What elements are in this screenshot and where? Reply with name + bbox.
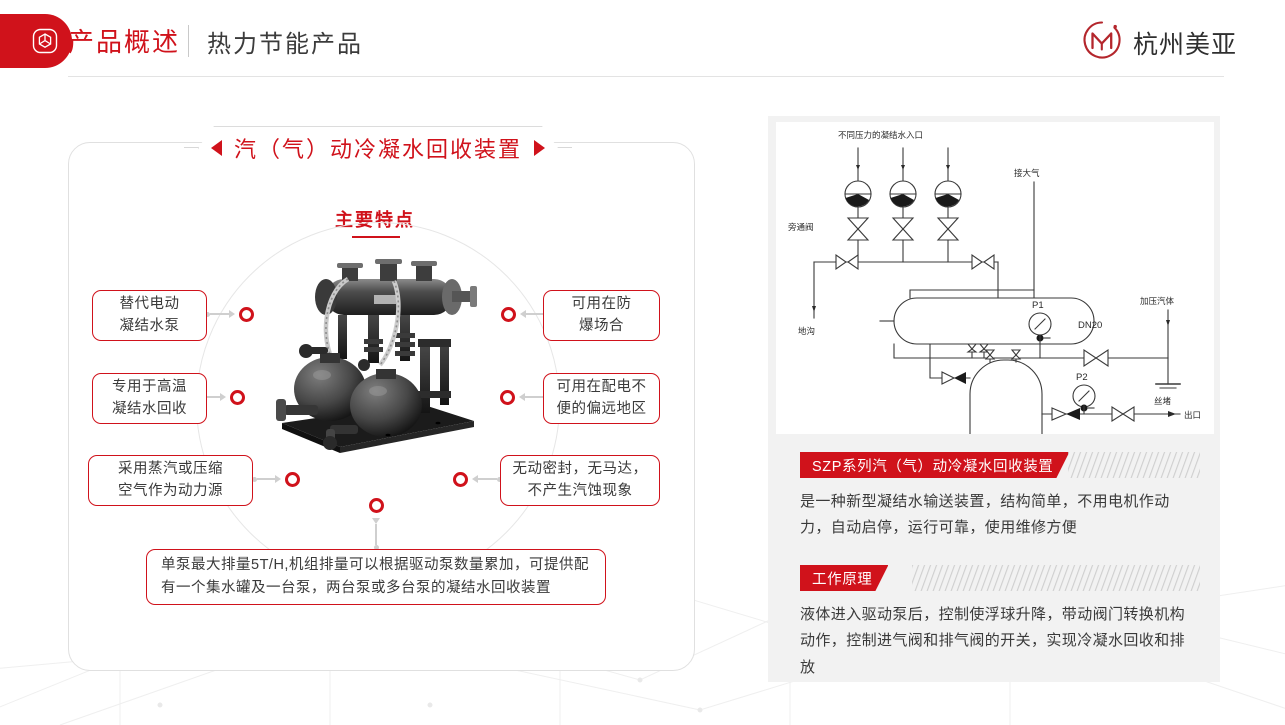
- meiya-m-logo-icon: [1080, 18, 1124, 67]
- diagram-label-atmosphere: 接大气: [1014, 168, 1040, 178]
- feature-node-1: [239, 307, 254, 322]
- feature-box-right-2: 可用在配电不 便的偏远地区: [543, 373, 660, 424]
- header-rule: [68, 76, 1224, 77]
- diagram-label-outlet: 出口: [1184, 410, 1201, 420]
- brand-logo: 杭州美亚: [1080, 18, 1237, 67]
- feature-node-6: [500, 390, 515, 405]
- connector-left-3: [252, 475, 281, 483]
- section-hatch-decoration: [1068, 452, 1200, 478]
- diagram-label-dn20: DN20: [1078, 320, 1102, 331]
- brand-name: 杭州美亚: [1133, 25, 1237, 61]
- section-principle: 工作原理 液体进入驱动泵后，控制使浮球升降，带动阀门转换机构动作，控制进气阀和排…: [800, 565, 1200, 681]
- cube-box-icon: [32, 28, 58, 54]
- diagram-label-bypass: 旁通阀: [788, 222, 814, 232]
- diagram-label-drain: 地沟: [798, 326, 815, 336]
- ribbon-arrow-left-icon: [211, 140, 222, 156]
- section-szp: SZP系列汽（气）动冷凝水回收装置 是一种新型凝结水输送装置，结构简单，不用电机…: [800, 452, 1200, 542]
- section-body: 液体进入驱动泵后，控制使浮球升降，带动阀门转换机构动作，控制进气阀和排气阀的开关…: [800, 602, 1200, 681]
- page-title: 产品概述: [68, 22, 180, 59]
- section-hatch-decoration: [912, 565, 1200, 591]
- ribbon-label: 汽（气）动冷凝水回收装置: [234, 132, 522, 164]
- page-header: 产品概述 热力节能产品 杭州美亚: [0, 0, 1285, 82]
- connector-left-1: [205, 310, 235, 318]
- section-body: 是一种新型凝结水输送装置，结构简单，不用电机作动力，自动启停，运行可靠，使用维修…: [800, 489, 1200, 542]
- feature-box-right-3: 无动密封，无马达， 不产生汽蚀现象: [500, 455, 660, 506]
- feature-label: 替代电动 凝结水泵: [120, 294, 180, 338]
- diagram-label-p2: P2: [1076, 372, 1088, 383]
- feature-box-left-2: 专用于高温 凝结水回收: [92, 373, 207, 424]
- feature-label: 单泵最大排量5T/H,机组排量可以根据驱动泵数量累加，可提供配有一个集水罐及一台…: [161, 554, 591, 600]
- diagram-label-gas: 加压汽体: [1140, 296, 1175, 306]
- feature-node-5: [453, 472, 468, 487]
- feature-box-left-1: 替代电动 凝结水泵: [92, 290, 207, 341]
- feature-node-4: [369, 498, 384, 513]
- section-tag: SZP系列汽（气）动冷凝水回收装置: [800, 452, 1069, 478]
- header-badge: [0, 14, 72, 68]
- header-divider: [188, 25, 189, 57]
- connector-bottom: [372, 518, 380, 550]
- diagram-container: 不同压力的凝结水入口: [776, 122, 1214, 434]
- piping-schematic-diagram: 不同压力的凝结水入口: [776, 122, 1214, 434]
- ribbon-arrow-right-icon: [534, 140, 545, 156]
- diagram-label-inlet: 不同压力的凝结水入口: [838, 130, 923, 140]
- feature-node-3: [285, 472, 300, 487]
- diagram-label-plug: 丝堵: [1154, 396, 1172, 406]
- section-tag: 工作原理: [800, 565, 888, 591]
- feature-label: 无动密封，无马达， 不产生汽蚀现象: [513, 459, 648, 503]
- diagram-label-p1: P1: [1032, 300, 1044, 311]
- feature-box-right-1: 可用在防 爆场合: [543, 290, 660, 341]
- feature-label: 可用在防 爆场合: [572, 294, 632, 338]
- feature-node-7: [501, 307, 516, 322]
- ribbon-title: 汽（气）动冷凝水回收装置: [198, 126, 558, 170]
- feature-node-2: [230, 390, 245, 405]
- feature-label: 采用蒸汽或压缩 空气作为动力源: [118, 459, 223, 503]
- feature-box-bottom: 单泵最大排量5T/H,机组排量可以根据驱动泵数量累加，可提供配有一个集水罐及一台…: [146, 549, 606, 605]
- feature-box-left-3: 采用蒸汽或压缩 空气作为动力源: [88, 455, 253, 506]
- feature-label: 专用于高温 凝结水回收: [112, 377, 187, 421]
- feature-label: 可用在配电不 便的偏远地区: [557, 377, 647, 421]
- connector-right-3: [472, 475, 502, 483]
- page-subtitle: 热力节能产品: [207, 24, 363, 59]
- product-photo: [268, 253, 486, 461]
